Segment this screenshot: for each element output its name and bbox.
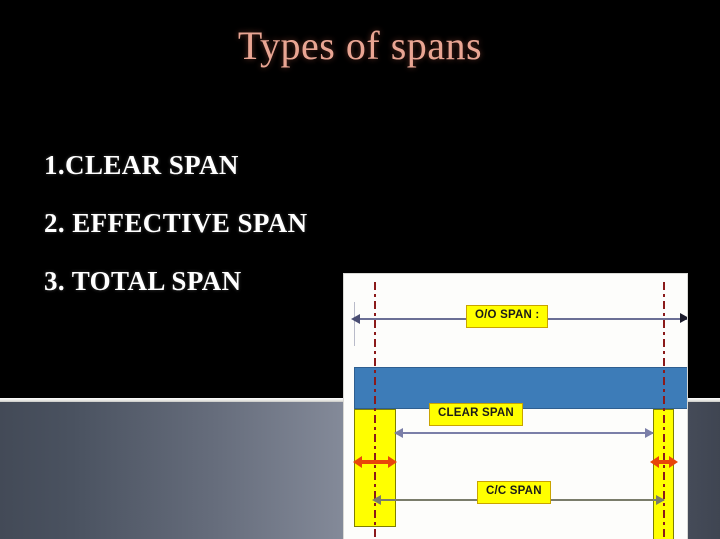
left-extension-line <box>354 302 355 346</box>
cc-span-right-arrowhead-icon <box>656 495 665 505</box>
cc-span-left-arrowhead-icon <box>372 495 381 505</box>
left-column-width-right-arrowhead-icon <box>388 456 397 468</box>
left-column-width-arrow <box>359 460 391 464</box>
oo-span-label: O/O SPAN : <box>466 305 548 328</box>
oo-span-right-arrowhead-icon <box>680 313 688 323</box>
bullet-list: 1.CLEAR SPAN 2. EFFECTIVE SPAN 3. TOTAL … <box>44 152 374 326</box>
slide: Types of spans 1.CLEAR SPAN 2. EFFECTIVE… <box>0 0 720 539</box>
cc-span-label: C/C SPAN <box>477 481 551 504</box>
oo-span-left-arrowhead-icon <box>351 314 360 324</box>
clear-span-label: CLEAR SPAN <box>429 403 523 426</box>
clear-span-dimension-line <box>396 432 653 434</box>
clear-span-left-arrowhead-icon <box>394 428 403 438</box>
list-item: 1.CLEAR SPAN <box>44 152 374 179</box>
right-column-width-left-arrowhead-icon <box>650 456 659 468</box>
right-column-width-right-arrowhead-icon <box>669 456 678 468</box>
clear-span-right-arrowhead-icon <box>645 428 654 438</box>
page-title: Types of spans <box>0 22 720 69</box>
list-item: 3. TOTAL SPAN <box>44 268 374 295</box>
span-types-beam-diagram: O/O SPAN : CLEAR SPAN C/C SPAN <box>343 273 688 539</box>
list-item: 2. EFFECTIVE SPAN <box>44 210 374 237</box>
left-column-width-left-arrowhead-icon <box>353 456 362 468</box>
